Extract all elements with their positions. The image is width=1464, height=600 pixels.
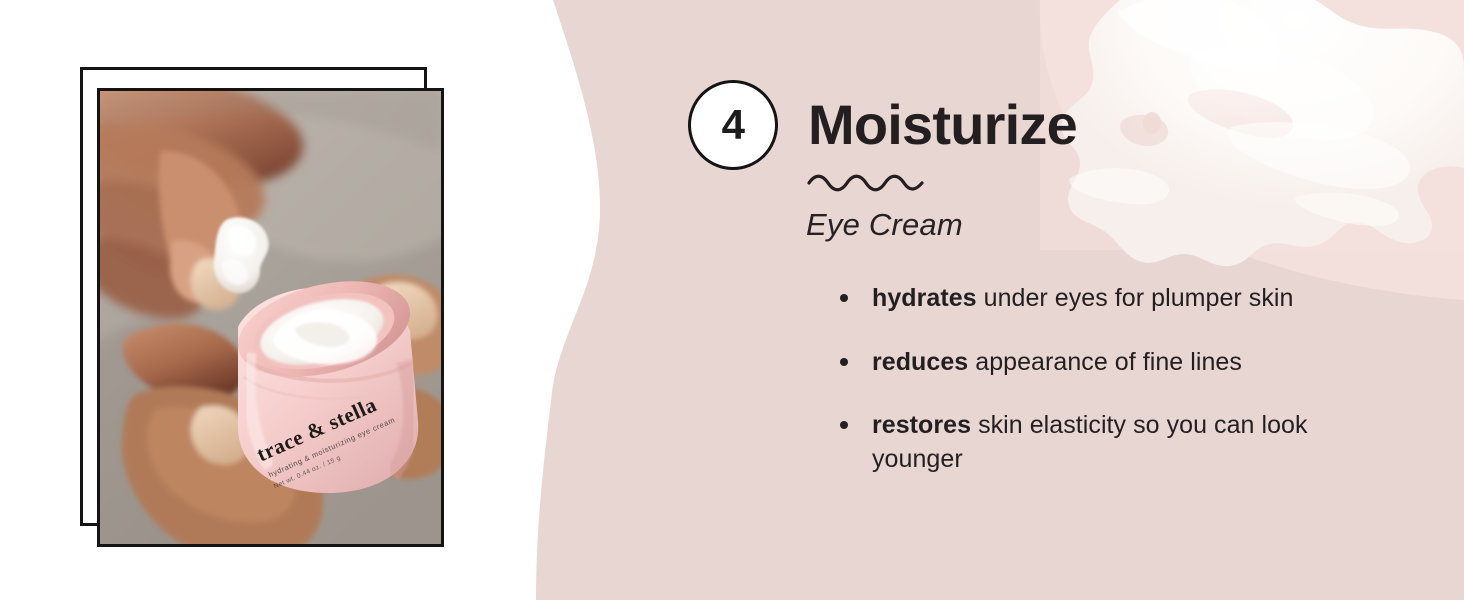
- page-title: Moisturize: [808, 97, 1077, 153]
- list-item: hydrates under eyes for plumper skin: [838, 282, 1358, 316]
- benefit-lead: hydrates: [872, 284, 977, 312]
- bullet-icon: [840, 421, 848, 429]
- bullet-icon: [840, 358, 848, 366]
- photo-composition: trace & stella hydrating & moisturizing …: [0, 0, 520, 600]
- step-number-badge: 4: [688, 80, 778, 170]
- list-item: restores skin elasticity so you can look…: [838, 409, 1358, 476]
- benefits-list: hydrates under eyes for plumper skin red…: [838, 282, 1358, 476]
- benefit-lead: reduces: [872, 348, 968, 376]
- step-content: 4 Moisturize Eye Cream hydrates under ey…: [688, 0, 1388, 600]
- slide-canvas: trace & stella hydrating & moisturizing …: [0, 0, 1464, 600]
- list-item: reduces appearance of fine lines: [838, 346, 1358, 380]
- hand-holding-eye-cream-jar-photo: trace & stella hydrating & moisturizing …: [97, 88, 444, 547]
- squiggle-icon: [806, 168, 926, 194]
- bullet-icon: [840, 294, 848, 302]
- benefit-rest: under eyes for plumper skin: [977, 284, 1294, 312]
- product-subtitle: Eye Cream: [806, 207, 963, 243]
- benefit-lead: restores: [872, 411, 971, 439]
- benefit-rest: appearance of fine lines: [968, 348, 1242, 376]
- step-number-label: 4: [722, 104, 745, 146]
- step-heading: 4 Moisturize: [688, 80, 1077, 170]
